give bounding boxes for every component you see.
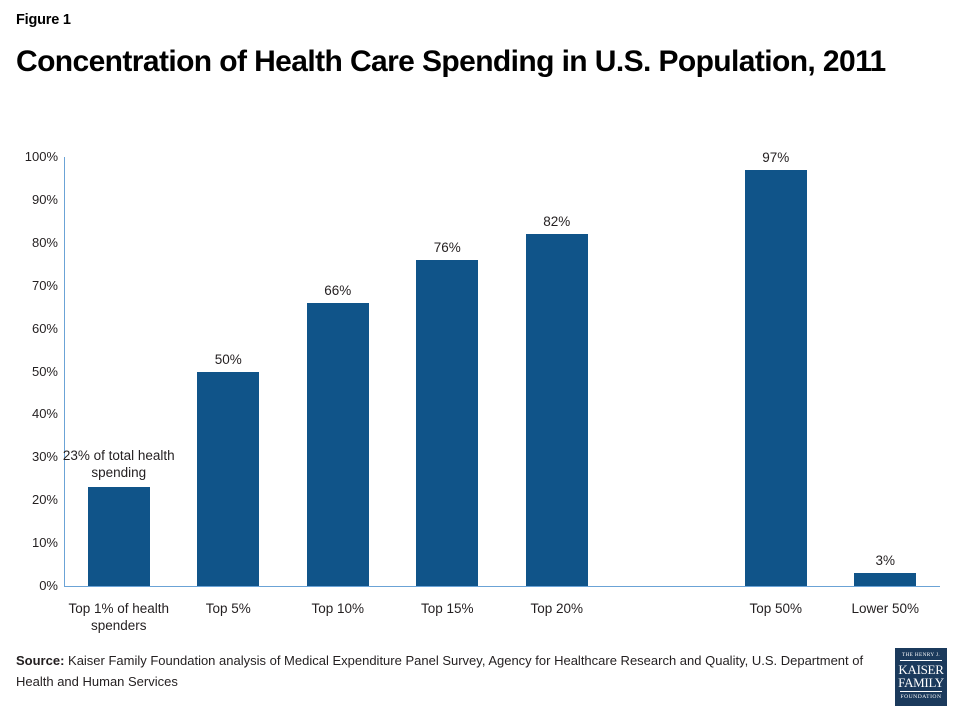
logo-line-the-henry-j: THE HENRY J. <box>900 652 942 661</box>
kaiser-family-foundation-logo: THE HENRY J. KAISER FAMILY FOUNDATION <box>895 648 947 706</box>
logo-line-foundation: FOUNDATION <box>900 691 942 701</box>
y-axis-tick-label: 80% <box>14 236 58 249</box>
y-axis-tick-label: 100% <box>14 150 58 163</box>
y-axis-tick-label: 0% <box>14 579 58 592</box>
x-axis-category-label: Top 10% <box>283 600 393 617</box>
y-axis-tick-label: 20% <box>14 493 58 506</box>
x-axis-category-label: Top 50% <box>721 600 831 617</box>
logo-line-family: FAMILY <box>895 676 947 690</box>
x-axis-category-label: Top 15% <box>393 600 503 617</box>
y-axis-tick-label: 90% <box>14 193 58 206</box>
x-axis-category-label: Top 1% of health spenders <box>64 600 174 634</box>
y-axis-tick-labels: 100%90%80%70%60%50%40%30%20%10%0% <box>12 0 58 640</box>
x-axis-category-labels: Top 1% of health spendersTop 5%Top 10%To… <box>64 0 940 640</box>
bar-chart: 100%90%80%70%60%50%40%30%20%10%0% 23% of… <box>0 0 960 640</box>
y-axis-tick-label: 40% <box>14 407 58 420</box>
x-axis-category-label: Top 20% <box>502 600 612 617</box>
x-axis-category-label: Lower 50% <box>831 600 941 617</box>
y-axis-tick-label: 50% <box>14 365 58 378</box>
source-label: Source: <box>16 653 64 668</box>
x-axis-category-label: Top 5% <box>174 600 284 617</box>
source-note: Source: Kaiser Family Foundation analysi… <box>16 650 886 692</box>
y-axis-tick-label: 70% <box>14 279 58 292</box>
y-axis-tick-label: 60% <box>14 322 58 335</box>
source-text: Kaiser Family Foundation analysis of Med… <box>16 653 863 689</box>
y-axis-tick-label: 10% <box>14 536 58 549</box>
